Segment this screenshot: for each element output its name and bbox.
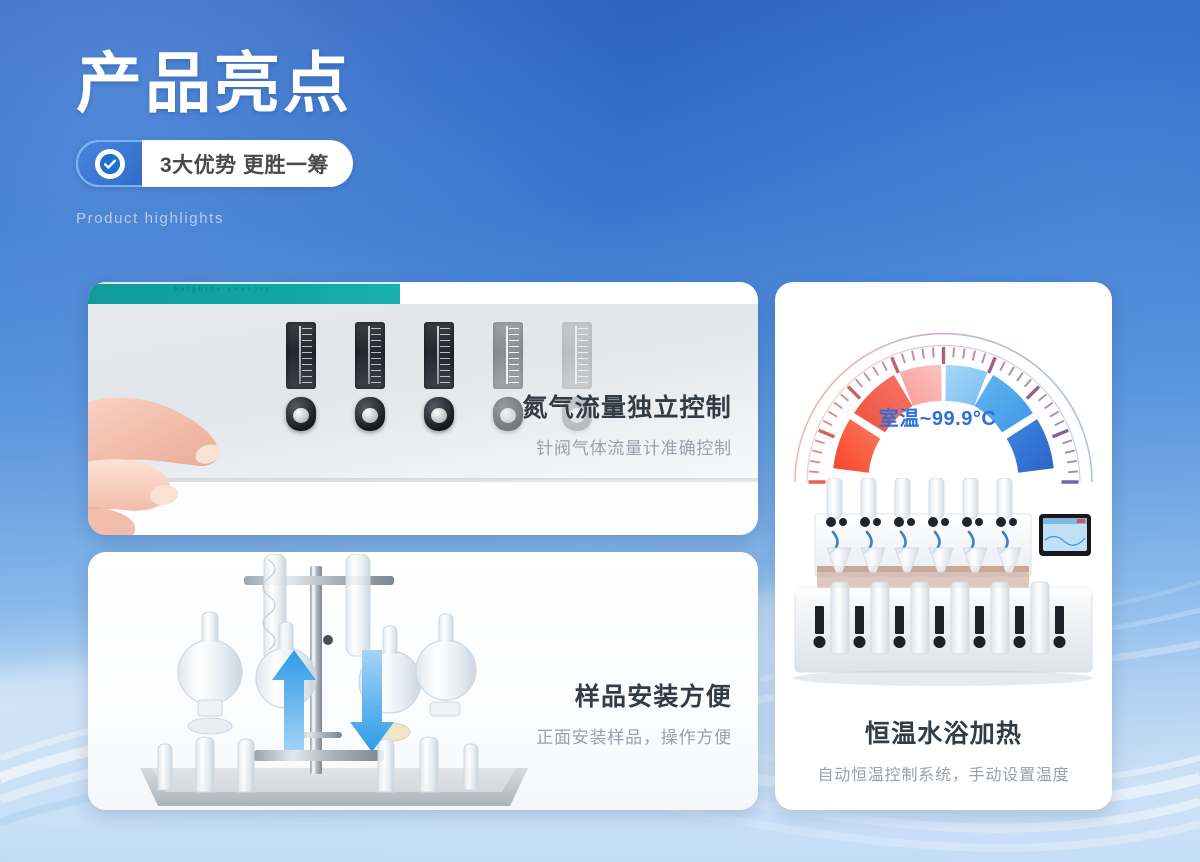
gauge-tick-major: [989, 357, 996, 373]
instrument-front-photo: [787, 478, 1100, 690]
needle-valve-knob: [493, 397, 523, 431]
highlight-card-grid: Sulphide sweeper: [88, 282, 1112, 810]
rotameter-tube-icon: [424, 322, 454, 389]
gauge-tick-minor: [873, 367, 878, 376]
gauge-tick-minor: [1025, 379, 1032, 387]
gauge-tick-minor: [812, 451, 822, 453]
gauge-tick-minor: [1065, 451, 1075, 453]
gauge-tick-minor: [810, 461, 820, 463]
gauge-tick-major: [1053, 430, 1069, 437]
badge-icon-container: [76, 140, 142, 187]
gauge-tick-minor: [815, 440, 825, 443]
gauge-tick-minor: [973, 351, 975, 361]
gauge-tick-minor: [933, 347, 934, 357]
gauge-tick-minor: [1068, 471, 1078, 472]
gauge-tick-minor: [864, 373, 870, 381]
card-subtitle: 自动恒温控制系统，手动设置温度: [775, 761, 1112, 785]
rotameter-tube-icon: [355, 322, 385, 389]
highlight-card-sample-install[interactable]: 样品安装方便 正面安装样品，操作方便: [88, 552, 758, 810]
gauge-tick-minor: [1039, 394, 1047, 401]
flowmeter-2: [355, 322, 385, 431]
needle-valve-knob: [355, 397, 385, 431]
flowmeter-4: [493, 322, 523, 431]
glassware-apparatus-illustration: [134, 554, 534, 810]
gauge-tick-minor: [1000, 362, 1005, 371]
card-caption: 氮气流量独立控制 针阀气体流量计准确控制: [522, 388, 732, 459]
card-subtitle: 正面安装样品，操作方便: [536, 723, 732, 748]
gauge-tick-major: [1027, 387, 1039, 399]
gauge-tick-minor: [912, 351, 914, 361]
gauge-tick-minor: [922, 349, 924, 359]
page-title: 产品亮点: [76, 46, 716, 124]
badge-label: 3大优势 更胜一筹: [142, 140, 353, 187]
gauge-tick-minor: [809, 471, 819, 472]
card-caption: 样品安装方便 正面安装样品，操作方便: [536, 677, 732, 748]
panel-strip-label: Sulphide sweeper: [174, 285, 272, 293]
rotameter-tube-icon: [562, 322, 592, 389]
gauge-tick-minor: [963, 349, 965, 359]
check-circle-icon: [95, 149, 125, 179]
gauge-tick-minor: [856, 379, 863, 387]
gauge-tick-minor: [1062, 440, 1072, 443]
needle-valve-knob: [424, 397, 454, 431]
gauge-tick-minor: [902, 354, 905, 364]
card-title: 恒温水浴加热: [775, 714, 1112, 750]
rotameter-tube-icon: [493, 322, 523, 389]
gauge-temperature-label: 室温~99.9°C: [775, 402, 1100, 431]
hand-adjusting-knob-illustration: [88, 360, 308, 535]
gauge-tick-major: [819, 430, 835, 437]
gauge-tick-minor: [982, 354, 985, 364]
touchscreen-display: [1039, 514, 1091, 556]
gauge-tick-minor: [1009, 367, 1014, 376]
flowmeter-3: [424, 322, 454, 431]
highlight-card-nitrogen-flow[interactable]: Sulphide sweeper: [88, 282, 758, 535]
advantage-badge: 3大优势 更胜一筹: [76, 140, 353, 187]
gauge-tick-major: [892, 357, 899, 373]
gauge-tick-minor: [1017, 373, 1023, 381]
page-subtitle-en: Product highlights: [76, 210, 716, 227]
card-caption: 恒温水浴加热 自动恒温控制系统，手动设置温度: [775, 714, 1112, 785]
gauge-tick-minor: [953, 347, 954, 357]
card-title: 样品安装方便: [536, 677, 732, 713]
card-subtitle: 针阀气体流量计准确控制: [522, 434, 732, 459]
page-header: 产品亮点 3大优势 更胜一筹 Product highlights: [76, 46, 716, 227]
card-title: 氮气流量独立控制: [522, 388, 732, 424]
highlight-card-water-bath[interactable]: 室温~99.9°C: [775, 282, 1112, 810]
gauge-tick-major: [848, 387, 860, 399]
gauge-tick-minor: [882, 362, 887, 371]
teal-header-strip: Sulphide sweeper: [88, 282, 400, 304]
gauge-tick-minor: [1067, 461, 1077, 463]
gauge-tick-minor: [841, 394, 849, 401]
